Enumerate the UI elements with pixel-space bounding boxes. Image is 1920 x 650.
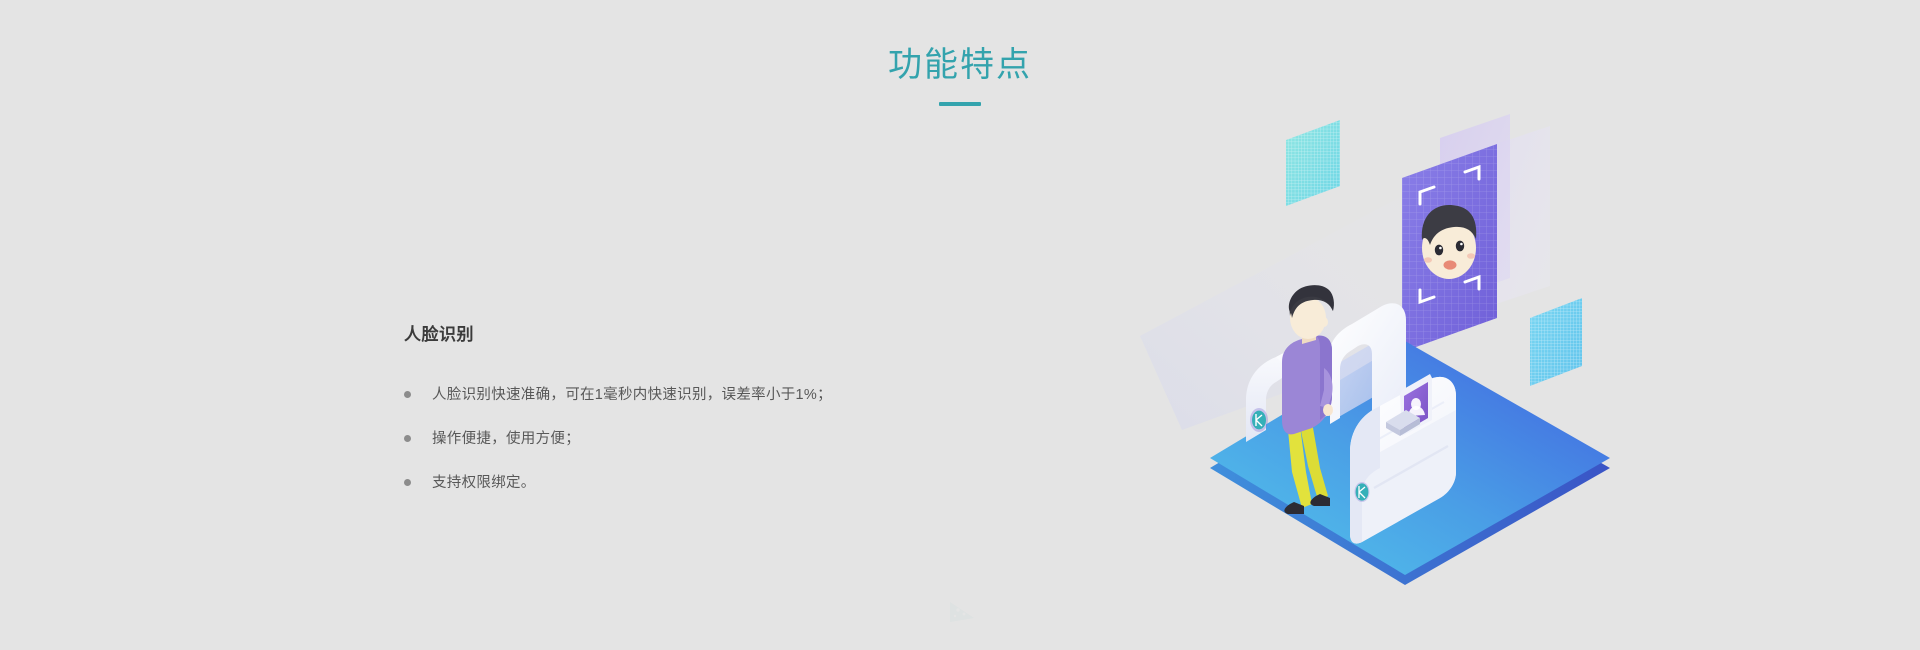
feature-heading: 人脸识别 [404, 320, 964, 345]
gate-logo-icon [1355, 482, 1370, 502]
list-item: 人脸识别快速准确，可在1毫秒内快速识别，误差率小于1%； [404, 385, 964, 405]
bullet-dot-icon [404, 391, 411, 398]
bullet-dot-icon [404, 479, 411, 486]
list-item-label: 操作便捷，使用方便； [432, 429, 964, 449]
watermark-icon [948, 600, 982, 624]
teal-mesh-upper [1280, 114, 1350, 214]
list-item: 操作便捷，使用方便； [404, 429, 964, 449]
face-scan-panel [1396, 138, 1506, 360]
page-title: 功能特点 [0, 44, 1920, 86]
gate-logo-icon [1252, 411, 1266, 430]
list-item-label: 人脸识别快速准确，可在1毫秒内快速识别，误差率小于1%； [432, 385, 964, 405]
section-header: 功能特点 [0, 44, 1920, 106]
avatar-face-icon [1422, 205, 1476, 279]
bullet-dot-icon [404, 435, 411, 442]
title-underline [939, 102, 981, 106]
list-item-label: 支持权限绑定。 [432, 473, 964, 493]
teal-mesh-lower [1524, 292, 1594, 394]
illustration-svg [1010, 100, 1710, 620]
face-recognition-illustration [1010, 100, 1710, 620]
feature-block: 人脸识别 人脸识别快速准确，可在1毫秒内快速识别，误差率小于1%； 操作便捷，使… [404, 320, 964, 493]
faint-watermark-artifact [948, 600, 982, 624]
feature-bullet-list: 人脸识别快速准确，可在1毫秒内快速识别，误差率小于1%； 操作便捷，使用方便； … [404, 385, 964, 493]
list-item: 支持权限绑定。 [404, 473, 964, 493]
page-root: 功能特点 人脸识别 人脸识别快速准确，可在1毫秒内快速识别，误差率小于1%； 操… [0, 0, 1920, 650]
